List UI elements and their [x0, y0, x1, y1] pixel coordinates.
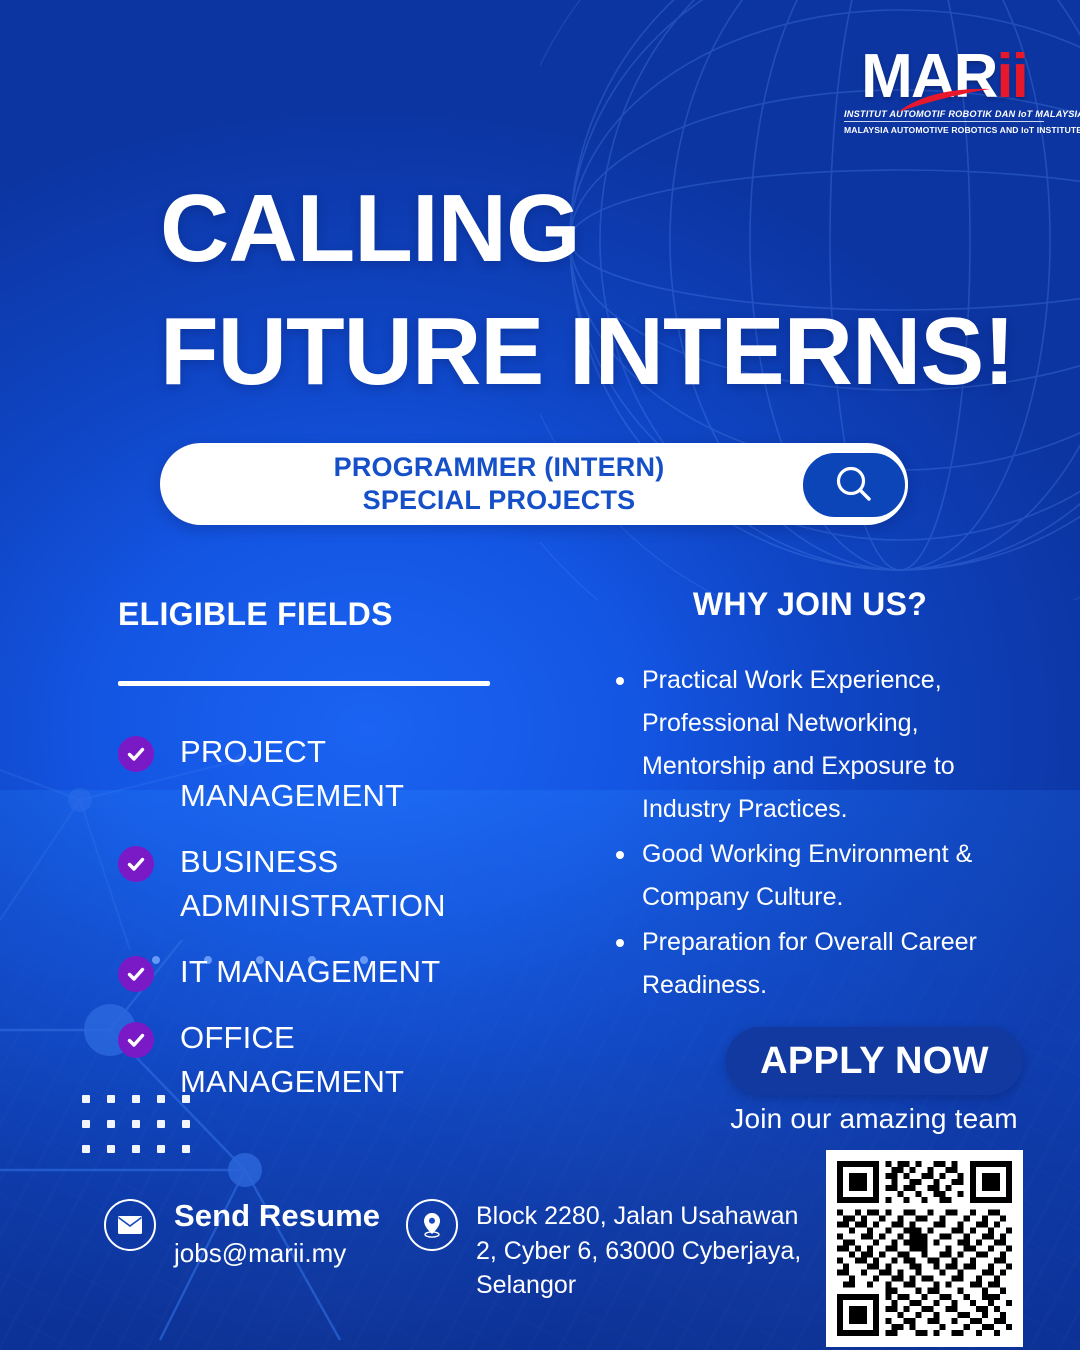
contact-address-block: Block 2280, Jalan Usahawan 2, Cyber 6, 6… — [406, 1199, 806, 1303]
list-item: IT MANAGEMENT — [118, 950, 538, 994]
join-team-subtitle: Join our amazing team — [686, 1103, 1062, 1135]
marii-logo: MARii INSTITUT AUTOMOTIF ROBOTIK DAN IoT… — [844, 48, 1044, 135]
qr-code[interactable] — [826, 1150, 1023, 1347]
apply-now-label: APPLY NOW — [760, 1040, 989, 1083]
send-resume-label: Send Resume — [174, 1198, 380, 1233]
position-search-bar[interactable]: PROGRAMMER (INTERN) SPECIAL PROJECTS — [160, 443, 908, 525]
headline-line-2: FUTURE INTERNS! — [160, 291, 1030, 414]
list-item: Practical Work Experience, Professional … — [616, 659, 1030, 831]
checkmark-icon — [126, 744, 146, 764]
map-pin-glyph-icon — [420, 1211, 444, 1239]
position-line-1: PROGRAMMER (INTERN) — [334, 451, 665, 484]
section-divider — [118, 681, 490, 686]
eligible-field-label: OFFICE MANAGEMENT — [180, 1016, 480, 1104]
page-title: CALLING FUTURE INTERNS! — [160, 168, 1030, 414]
checkmark-icon — [126, 964, 146, 984]
logo-swoosh-icon — [896, 88, 992, 114]
why-join-us-section: WHY JOIN US? Practical Work Experience, … — [590, 586, 1030, 1009]
list-item: Good Working Environment & Company Cultu… — [616, 833, 1030, 919]
eligible-fields-title: ELIGIBLE FIELDS — [118, 596, 538, 633]
eligible-field-label: IT MANAGEMENT — [180, 950, 440, 994]
list-item: Preparation for Overall Career Readiness… — [616, 921, 1030, 1007]
check-circle-icon — [118, 846, 154, 882]
email-address[interactable]: jobs@marii.my — [174, 1238, 380, 1269]
why-join-us-title: WHY JOIN US? — [590, 586, 1030, 623]
poster-canvas: MARii INSTITUT AUTOMOTIF ROBOTIK DAN IoT… — [0, 0, 1080, 1350]
office-address: Block 2280, Jalan Usahawan 2, Cyber 6, 6… — [476, 1199, 806, 1303]
search-icon — [833, 464, 875, 506]
envelope-icon — [104, 1199, 156, 1251]
eligible-field-label: PROJECT MANAGEMENT — [180, 730, 480, 818]
position-title: PROGRAMMER (INTERN) SPECIAL PROJECTS — [334, 451, 735, 517]
position-line-2: SPECIAL PROJECTS — [334, 484, 665, 517]
check-circle-icon — [118, 956, 154, 992]
contact-email-text: Send Resume jobs@marii.my — [174, 1199, 380, 1269]
list-item: BUSINESS ADMINISTRATION — [118, 840, 538, 928]
checkmark-icon — [126, 1030, 146, 1050]
check-circle-icon — [118, 736, 154, 772]
contact-email-block: Send Resume jobs@marii.my — [104, 1199, 380, 1269]
list-item: PROJECT MANAGEMENT — [118, 730, 538, 818]
check-circle-icon — [118, 1022, 154, 1058]
logo-tagline-english: MALAYSIA AUTOMOTIVE ROBOTICS AND IoT INS… — [844, 121, 1044, 135]
checkmark-icon — [126, 854, 146, 874]
envelope-glyph-icon — [117, 1215, 143, 1235]
map-pin-icon — [406, 1199, 458, 1251]
search-button[interactable] — [800, 450, 908, 520]
headline-line-1: CALLING — [160, 175, 580, 282]
logo-text-accent: ii — [996, 42, 1026, 111]
qr-code-icon — [837, 1161, 1012, 1336]
list-item: OFFICE MANAGEMENT — [118, 1016, 538, 1104]
apply-now-button[interactable]: APPLY NOW — [726, 1027, 1023, 1095]
eligible-field-label: BUSINESS ADMINISTRATION — [180, 840, 480, 928]
why-join-us-list: Practical Work Experience, Professional … — [590, 659, 1030, 1007]
logo-wordmark: MARii — [844, 48, 1044, 105]
eligible-fields-list: PROJECT MANAGEMENT BUSINESS ADMINISTRATI… — [118, 730, 538, 1104]
eligible-fields-section: ELIGIBLE FIELDS PROJECT MANAGEMENT BUSIN… — [118, 596, 538, 1126]
